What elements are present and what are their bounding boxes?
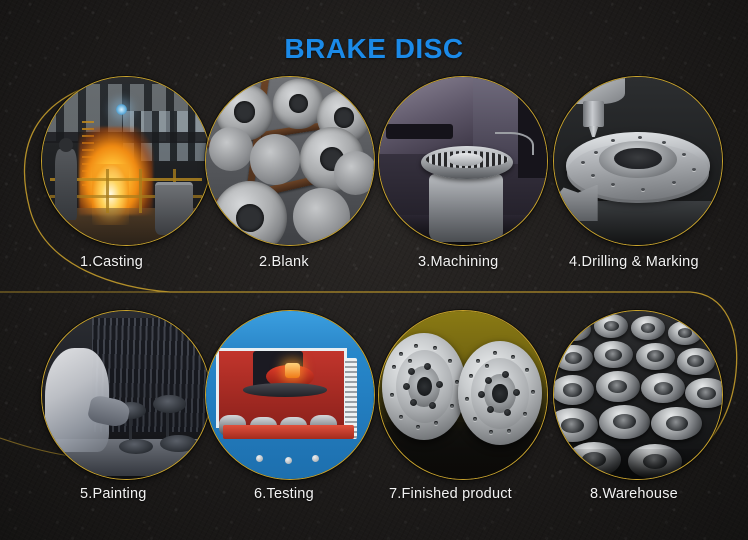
- step-image-warehouse[interactable]: [553, 310, 723, 480]
- step-caption-1: 1.Casting: [80, 254, 143, 270]
- page-title: BRAKE DISC: [0, 33, 748, 65]
- step-image-finished-product[interactable]: [378, 310, 548, 480]
- step-caption-5: 5.Painting: [80, 486, 147, 502]
- brake-disc-process-infographic: BRAKE DISC 1.Casting: [0, 0, 748, 540]
- step-image-casting[interactable]: [41, 76, 211, 246]
- step-image-machining[interactable]: [378, 76, 548, 246]
- step-image-testing[interactable]: [205, 310, 375, 480]
- step-caption-8: 8.Warehouse: [590, 486, 678, 502]
- step-caption-2: 2.Blank: [259, 254, 309, 270]
- step-caption-6: 6.Testing: [254, 486, 314, 502]
- step-image-painting[interactable]: [41, 310, 211, 480]
- step-image-drilling-marking[interactable]: [553, 76, 723, 246]
- step-caption-7: 7.Finished product: [389, 486, 512, 502]
- step-image-blank[interactable]: [205, 76, 375, 246]
- step-caption-3: 3.Machining: [418, 254, 498, 270]
- step-caption-4: 4.Drilling & Marking: [569, 254, 699, 270]
